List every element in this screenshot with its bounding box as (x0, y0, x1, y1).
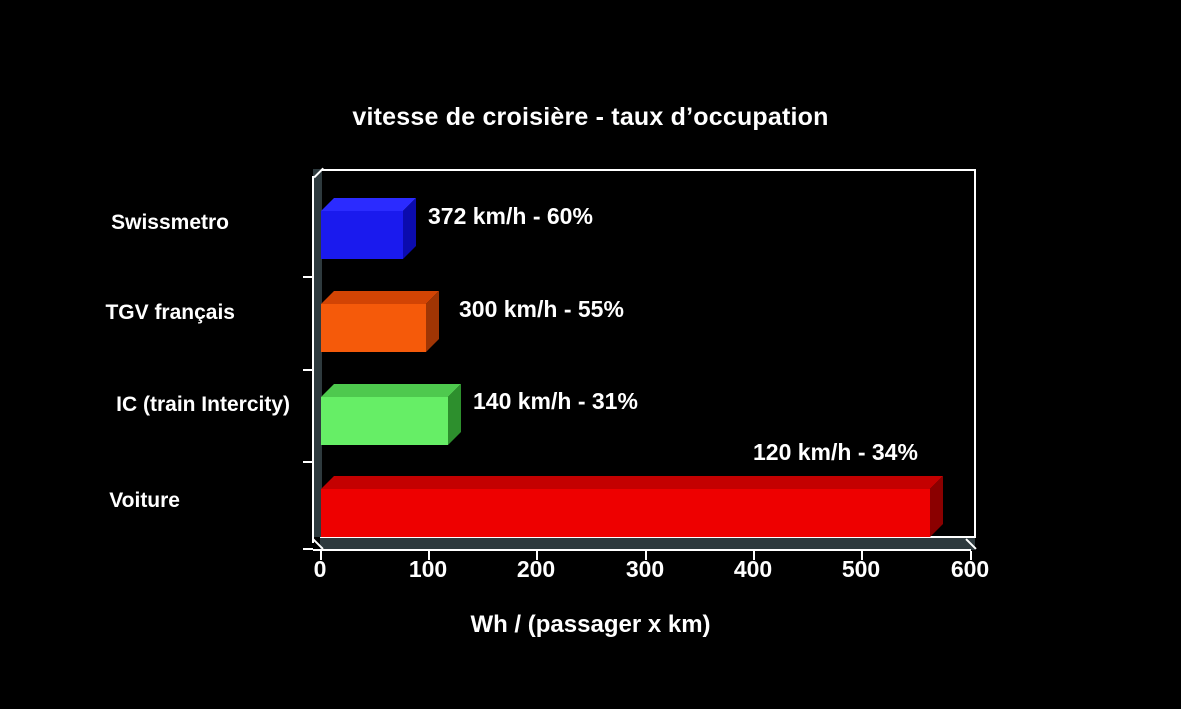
bar-top-face (321, 198, 416, 211)
category-label-0: Swissmetro (111, 211, 229, 235)
bar-front-face (321, 489, 930, 537)
value-tick-label-5: 500 (821, 556, 901, 583)
data-label-3: 120 km/h - 34% (753, 439, 918, 466)
category-label-2: IC (train Intercity) (116, 393, 290, 417)
plot-frame-top-edge (320, 169, 976, 171)
value-tick-label-3: 300 (605, 556, 685, 583)
wall-left-edge (312, 176, 314, 543)
bar-3 (321, 476, 943, 537)
bar-top-face (321, 291, 439, 304)
bar-0 (321, 198, 416, 259)
bar-front-face (321, 304, 426, 352)
chart-canvas: vitesse de croisière - taux d’occupation… (0, 0, 1181, 709)
bar-top-face (321, 384, 461, 397)
plot-frame-right-edge (974, 169, 976, 538)
bar-top-face (321, 476, 943, 489)
value-tick-label-1: 100 (388, 556, 468, 583)
data-label-2: 140 km/h - 31% (473, 388, 638, 415)
value-tick-label-4: 400 (713, 556, 793, 583)
value-tick-label-0: 0 (280, 556, 360, 583)
category-label-3: Voiture (109, 489, 180, 513)
category-tick (303, 369, 313, 371)
x-axis-title: Wh / (passager x km) (0, 611, 1181, 639)
data-label-0: 372 km/h - 60% (428, 203, 593, 230)
category-tick (303, 276, 313, 278)
bar-1 (321, 291, 439, 352)
chart-title: vitesse de croisière - taux d’occupation (0, 103, 1181, 132)
category-label-1: TGV français (105, 301, 235, 325)
value-tick-label-6: 600 (930, 556, 1010, 583)
category-axis-baseline (313, 549, 971, 551)
bar-2 (321, 384, 461, 445)
bar-front-face (321, 397, 448, 445)
data-label-1: 300 km/h - 55% (459, 296, 624, 323)
bar-front-face (321, 211, 403, 259)
value-tick-label-2: 200 (496, 556, 576, 583)
category-tick (303, 548, 313, 550)
category-tick (303, 461, 313, 463)
